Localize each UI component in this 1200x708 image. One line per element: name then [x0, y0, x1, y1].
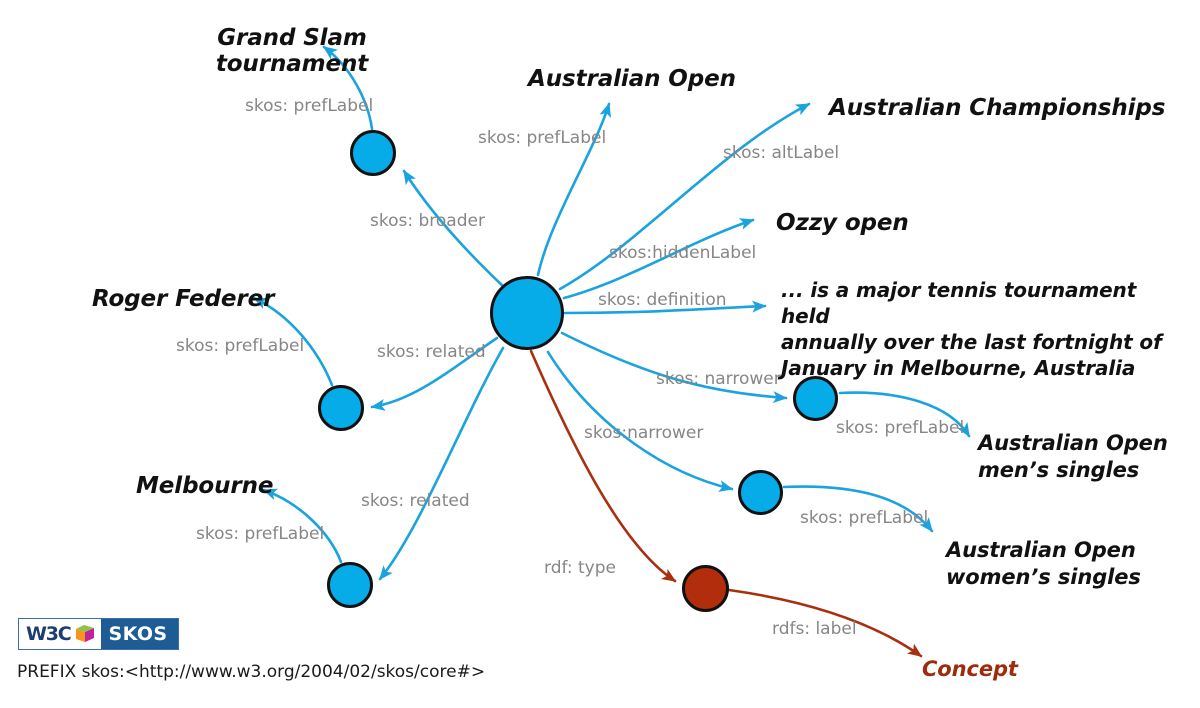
entity-definition-text: ... is a major tennis tournament held an…: [781, 277, 1181, 381]
predicate-definition: skos: definition: [598, 290, 727, 310]
entity-australian-championships: Australian Championships: [829, 95, 1165, 121]
w3c-logo-part: W3C: [19, 619, 101, 649]
entity-mens-singles: Australian Open men’s singles: [978, 430, 1198, 485]
entity-melbourne: Melbourne: [136, 473, 273, 499]
w3c-logo-text: W3C: [26, 625, 71, 644]
node-australian-open-center[interactable]: [490, 276, 564, 350]
predicate-pref-label-federer: skos: prefLabel: [176, 336, 304, 356]
edge-related-melbourne: [380, 348, 503, 579]
node-mens-singles[interactable]: [793, 376, 838, 421]
predicate-related-melbourne: skos: related: [361, 491, 470, 511]
edge-rdf-type: [531, 351, 675, 581]
predicate-pref-label-australian-open: skos: prefLabel: [478, 128, 606, 148]
predicate-pref-label-grand-slam: skos: prefLabel: [245, 96, 373, 116]
node-roger-federer[interactable]: [318, 385, 364, 431]
w3c-skos-logo: W3C SKOS: [18, 618, 179, 650]
prefix-declaration: PREFIX skos:<http://www.w3.org/2004/02/s…: [17, 662, 485, 682]
predicate-rdf-type: rdf: type: [544, 558, 616, 578]
skos-logo-part: SKOS: [101, 619, 178, 649]
entity-womens-singles: Australian Open women’s singles: [946, 537, 1176, 592]
predicate-related-federer: skos: related: [377, 342, 486, 362]
skos-cube-icon: [74, 623, 96, 645]
predicate-pref-label-womens: skos: prefLabel: [800, 508, 928, 528]
predicate-rdfs-label: rdfs: label: [772, 619, 857, 639]
predicate-hidden-label: skos:hiddenLabel: [609, 243, 756, 263]
node-concept-class[interactable]: [682, 565, 729, 612]
predicate-broader: skos: broader: [370, 211, 485, 231]
node-womens-singles[interactable]: [738, 470, 783, 515]
node-melbourne[interactable]: [327, 562, 373, 608]
entity-grand-slam-tournament: Grand Slam tournament: [192, 25, 392, 78]
predicate-pref-label-mens: skos: prefLabel: [836, 418, 964, 438]
skos-diagram-canvas: Grand Slam tournament Australian Open Au…: [0, 0, 1200, 708]
predicate-alt-label: skos: altLabel: [723, 143, 839, 163]
predicate-narrower-lower: skos:narrower: [584, 423, 703, 443]
predicate-narrower-upper: skos: narrower: [656, 369, 781, 389]
entity-roger-federer: Roger Federer: [92, 286, 274, 312]
entity-australian-open: Australian Open: [528, 66, 736, 92]
skos-logo-text: SKOS: [109, 625, 168, 644]
entity-concept: Concept: [922, 657, 1018, 681]
entity-ozzy-open: Ozzy open: [776, 210, 909, 236]
predicate-pref-label-melbourne: skos: prefLabel: [196, 524, 324, 544]
node-grand-slam[interactable]: [350, 130, 396, 176]
